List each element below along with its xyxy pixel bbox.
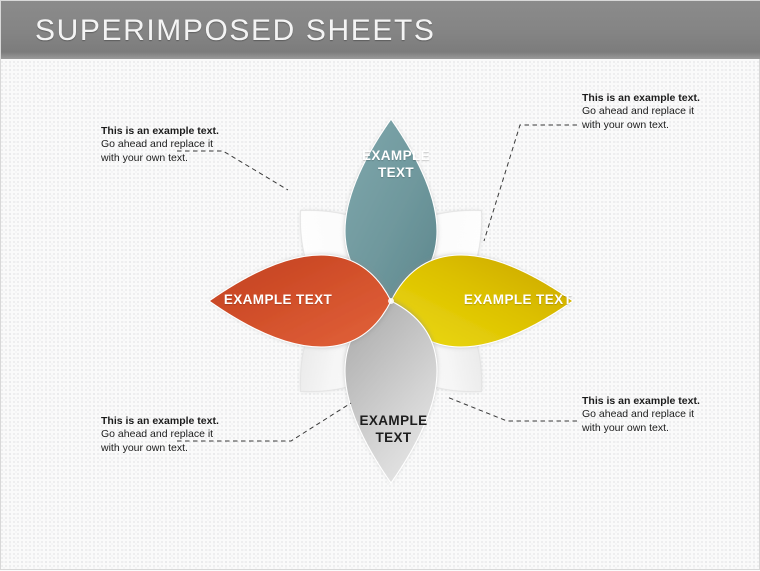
callout-heading: This is an example text.	[101, 415, 221, 428]
callout-top-right[interactable]: This is an example text. Go ahead and re…	[582, 92, 702, 132]
callout-bottom-left[interactable]: This is an example text. Go ahead and re…	[101, 415, 221, 455]
callout-body: Go ahead and replace it with your own te…	[101, 138, 221, 165]
callout-bottom-right[interactable]: This is an example text. Go ahead and re…	[582, 395, 702, 435]
callout-heading: This is an example text.	[582, 395, 702, 408]
callout-body: Go ahead and replace it with your own te…	[582, 408, 702, 435]
callout-body: Go ahead and replace it with your own te…	[101, 428, 221, 455]
callout-heading: This is an example text.	[582, 92, 702, 105]
page-title: SUPERIMPOSED SHEETS	[35, 14, 435, 48]
slide-canvas: SUPERIMPOSED SHEETS	[0, 0, 760, 570]
slide-title-bar: SUPERIMPOSED SHEETS	[1, 1, 760, 59]
leader-line-top-right	[484, 125, 577, 241]
callout-body: Go ahead and replace it with your own te…	[582, 105, 702, 132]
flower-petal-diagram: EXAMPLE TEXT EXAMPLE TEXT EXAMPLE TEXT E…	[1, 59, 760, 571]
callout-heading: This is an example text.	[101, 125, 221, 138]
callout-top-left[interactable]: This is an example text. Go ahead and re…	[101, 125, 221, 165]
leader-line-bottom-right	[447, 397, 577, 421]
